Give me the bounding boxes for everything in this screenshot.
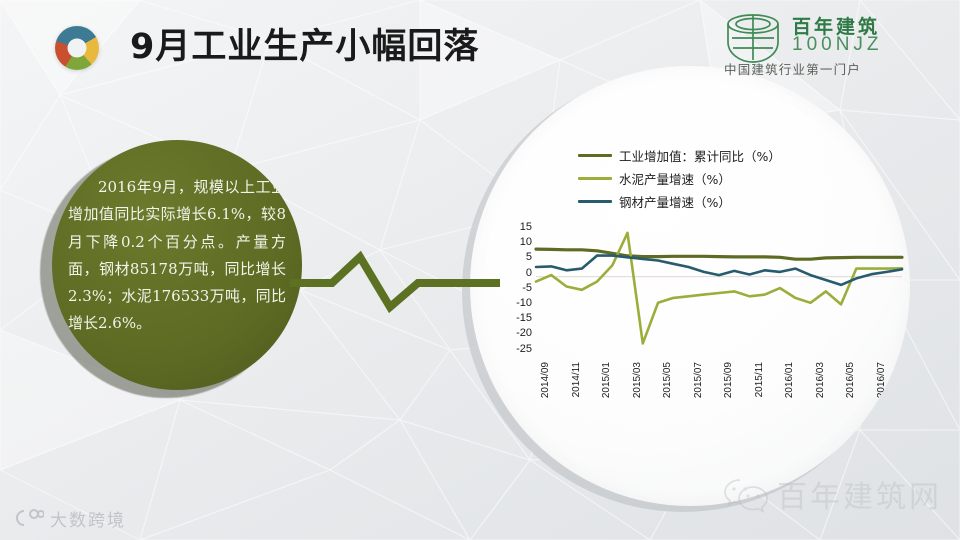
x-axis-tick: 2014/11 bbox=[571, 362, 582, 397]
legend-label-cement: 水泥产量增速（%） bbox=[619, 169, 731, 188]
page-header: 9月工业生产小幅回落 百年建筑 100NJZ 中国建筑行业第一门户 bbox=[0, 0, 960, 92]
y-axis-tick: 15 bbox=[492, 220, 532, 235]
x-axis-tick: 2016/05 bbox=[845, 362, 856, 398]
summary-circle: 2016年9月，规模以上工业增加值同比实际增长6.1%，较8月下降0.2个百分点… bbox=[52, 140, 302, 390]
x-axis-tick: 2015/07 bbox=[693, 362, 704, 398]
legend-item: 钢材产量增速（%） bbox=[578, 190, 781, 213]
infinity-mark-icon bbox=[14, 507, 44, 529]
legend-swatch-industrial bbox=[578, 154, 612, 158]
legend-label-industrial: 工业增加值：累计同比（%） bbox=[619, 146, 781, 165]
chart-series-line bbox=[536, 256, 902, 285]
chart-plot-area: 151050-5-10-15-20-25 2014/092014/112015/… bbox=[470, 66, 910, 506]
legend-swatch-cement bbox=[578, 177, 612, 181]
x-axis-tick: 2016/09 bbox=[906, 362, 910, 398]
legend-swatch-steel bbox=[578, 200, 612, 204]
watermark-left-text: 大数跨境 bbox=[50, 506, 126, 531]
legend-label-steel: 钢材产量增速（%） bbox=[619, 192, 731, 211]
wechat-icon bbox=[723, 475, 769, 513]
corporate-name-en: 100NJZ bbox=[792, 34, 883, 56]
x-axis-tick: 2016/01 bbox=[784, 362, 795, 398]
watermark-left: 大数跨境 bbox=[14, 502, 126, 534]
x-axis-tick: 2014/09 bbox=[540, 362, 551, 398]
x-axis-tick: 2015/05 bbox=[662, 362, 673, 398]
x-axis-tick: 2015/11 bbox=[754, 362, 765, 397]
watermark-right-text: 百年建筑网 bbox=[777, 472, 942, 516]
y-axis-tick: -25 bbox=[492, 342, 532, 357]
x-axis-tick: 2015/03 bbox=[632, 362, 643, 398]
colored-donut-ring-icon bbox=[55, 26, 99, 70]
summary-text: 2016年9月，规模以上工业增加值同比实际增长6.1%，较8月下降0.2个百分点… bbox=[68, 174, 286, 338]
chart-legend: 工业增加值：累计同比（%） 水泥产量增速（%） 钢材产量增速（%） bbox=[578, 144, 781, 213]
corporate-tagline: 中国建筑行业第一门户 bbox=[724, 59, 861, 78]
x-axis-tick: 2015/09 bbox=[723, 362, 734, 398]
chart-x-axis: 2014/092014/112015/012015/032015/052015/… bbox=[516, 362, 910, 452]
chart-series-line bbox=[536, 249, 902, 259]
legend-item: 水泥产量增速（%） bbox=[578, 167, 781, 190]
page-title: 9月工业生产小幅回落 bbox=[130, 18, 479, 69]
x-axis-tick: 2016/07 bbox=[876, 362, 887, 398]
chart-circle: 工业增加值：累计同比（%） 水泥产量增速（%） 钢材产量增速（%） 151050… bbox=[470, 66, 910, 506]
watermark-right: 百年建筑网 bbox=[723, 472, 942, 516]
zigzag-line-icon bbox=[290, 235, 500, 330]
legend-item: 工业增加值：累计同比（%） bbox=[578, 144, 781, 167]
corporate-logo: 百年建筑 100NJZ 中国建筑行业第一门户 bbox=[722, 8, 940, 82]
x-axis-tick: 2016/03 bbox=[815, 362, 826, 398]
x-axis-tick: 2015/01 bbox=[601, 362, 612, 398]
